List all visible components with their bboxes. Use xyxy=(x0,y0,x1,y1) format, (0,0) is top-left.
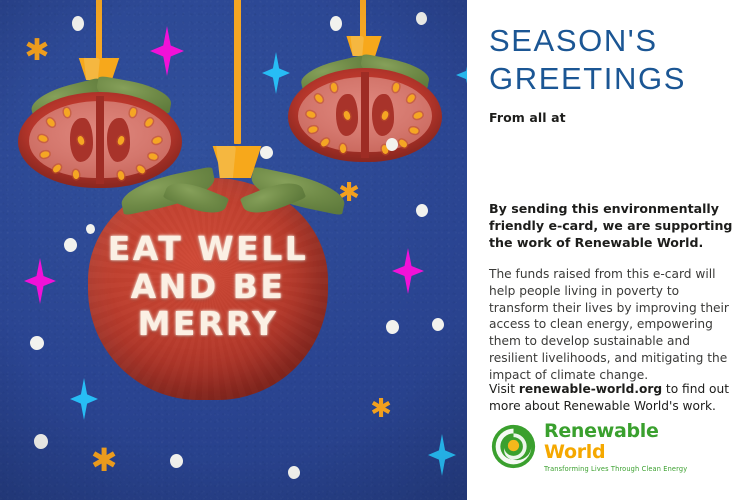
tomato-seed xyxy=(73,170,80,179)
from-all-at-label: From all at xyxy=(489,110,732,125)
lead-paragraph-block: By sending this environmentally friendly… xyxy=(489,200,734,251)
ornament-string-left xyxy=(96,0,102,68)
logo-tagline: Transforming Lives Through Clean Energy xyxy=(544,465,687,473)
tomato-seed xyxy=(340,144,347,153)
snow-dot xyxy=(386,138,398,151)
greeting-line-2: GREETINGS xyxy=(489,60,732,98)
lead-paragraph: By sending this environmentally friendly… xyxy=(489,200,734,251)
snow-dot xyxy=(72,16,84,31)
star-burst-top-left: ✱ xyxy=(22,36,52,66)
tomato-septum-right xyxy=(361,72,369,158)
ornament-message: EAT WELL AND BE MERRY xyxy=(88,230,328,343)
page-title: SEASON'S GREETINGS xyxy=(489,22,732,98)
snow-dot xyxy=(386,320,399,334)
star-burst-bottom-right: ✱ xyxy=(368,396,394,422)
ecard-root: EAT WELL AND BE MERRY ✱ ✱ ✱ ✱ xyxy=(0,0,750,500)
greeting-line-1: SEASON'S xyxy=(489,22,732,60)
renewable-world-logo[interactable]: Renewable World Transforming Lives Throu… xyxy=(490,421,690,481)
star-burst-bottom: ✱ xyxy=(88,444,120,476)
snow-dot xyxy=(288,466,300,479)
logo-wordmark: Renewable World Transforming Lives Throu… xyxy=(544,421,687,473)
snow-dot xyxy=(260,146,273,159)
ornament-tomato-top-left xyxy=(18,92,182,188)
ornament-message-line-2: AND BE xyxy=(88,268,328,306)
ornament-string-center xyxy=(234,0,241,144)
tomato-septum-left xyxy=(96,96,104,184)
snow-dot xyxy=(170,454,183,468)
ornament-tomato-top-right xyxy=(288,68,442,162)
snow-dot xyxy=(34,434,48,449)
body-paragraph: The funds raised from this e-card will h… xyxy=(489,266,734,384)
renewable-world-link[interactable]: renewable-world.org xyxy=(519,382,662,396)
snow-dot xyxy=(30,336,44,350)
logo-word-renewable: Renewable xyxy=(544,421,687,442)
ornament-message-line-1: EAT WELL xyxy=(88,230,328,268)
snow-dot xyxy=(416,204,428,217)
visit-prefix: Visit xyxy=(489,382,519,396)
body-paragraph-block: The funds raised from this e-card will h… xyxy=(489,266,734,384)
snow-dot xyxy=(330,16,342,31)
visit-paragraph: Visit renewable-world.org to find out mo… xyxy=(489,381,734,415)
green-swirl-circle-icon xyxy=(490,423,537,470)
snow-dot xyxy=(64,238,77,252)
ecard-illustration: EAT WELL AND BE MERRY ✱ ✱ ✱ ✱ xyxy=(0,0,467,500)
ornament-string-right xyxy=(360,0,366,38)
visit-block: Visit renewable-world.org to find out mo… xyxy=(489,381,734,415)
logo-word-world: World xyxy=(544,442,687,463)
ornament-message-line-3: MERRY xyxy=(88,305,328,343)
snow-dot xyxy=(416,12,427,25)
snow-dot xyxy=(432,318,444,331)
